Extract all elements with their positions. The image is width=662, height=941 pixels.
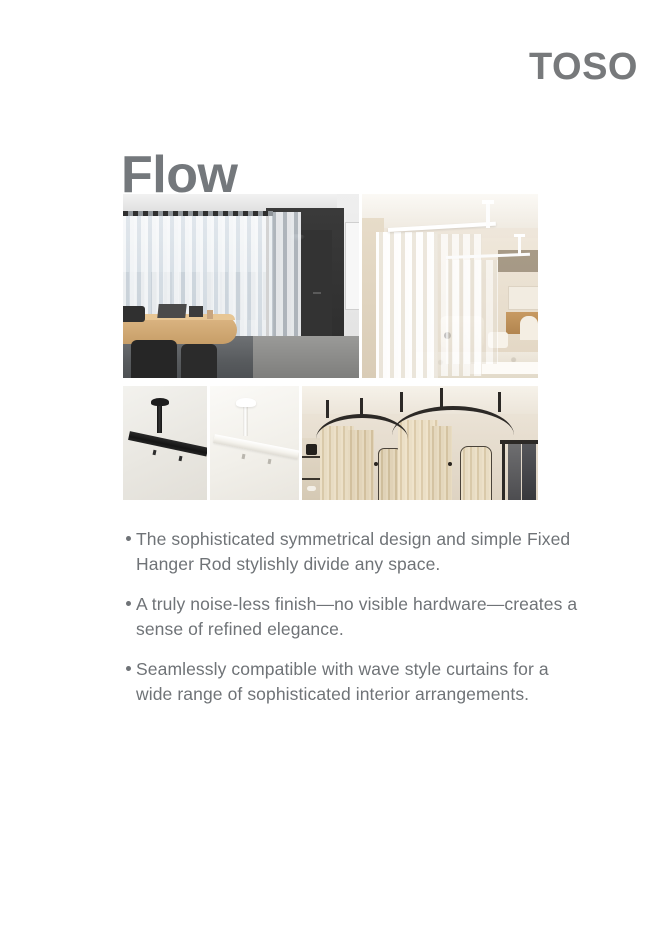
retail-handbag <box>306 444 317 455</box>
photo-black-rod-detail <box>123 386 207 500</box>
bullet-dot-icon <box>126 601 131 606</box>
lounge-side-chair <box>520 316 538 340</box>
retail-rod-drop-1 <box>326 400 329 418</box>
photo-white-rod-detail <box>210 386 299 500</box>
white-rod-bracket <box>236 398 256 407</box>
retail-rod-drop-4 <box>440 388 443 410</box>
retail-wall-knob-1 <box>374 462 378 466</box>
office-chair-front-2 <box>181 344 217 378</box>
office-curtain-stack <box>269 212 301 354</box>
retail-curtain-niche <box>460 446 492 500</box>
photo-retail-fitting-rooms <box>302 386 538 500</box>
lounge-shelf-unit <box>508 286 538 310</box>
retail-rod-drop-3 <box>400 392 403 412</box>
gallery-row-top <box>123 194 538 378</box>
lounge-curtain-front <box>376 232 438 378</box>
office-monitor <box>189 306 203 317</box>
lounge-ceiling <box>362 194 538 228</box>
feature-list: The sophisticated symmetrical design and… <box>126 527 586 722</box>
office-chair-back <box>123 306 145 322</box>
list-item: The sophisticated symmetrical design and… <box>126 527 586 577</box>
office-wall-art <box>345 222 359 310</box>
office-cup <box>207 310 213 319</box>
office-curtain-rail <box>123 211 273 216</box>
gallery-row-bottom <box>123 386 538 500</box>
lounge-rod-back-drop <box>518 236 521 256</box>
feature-text: The sophisticated symmetrical design and… <box>136 527 586 577</box>
retail-rack-post <box>502 440 505 500</box>
lounge-rod-back-cap <box>514 234 525 237</box>
feature-text: Seamlessly compatible with wave style cu… <box>136 657 586 707</box>
retail-wall-knob-2 <box>448 462 452 466</box>
retail-garment-1 <box>508 444 521 500</box>
lounge-rod-front-cap <box>482 200 494 204</box>
list-item: Seamlessly compatible with wave style cu… <box>126 657 586 707</box>
white-rod-drop <box>243 406 248 436</box>
office-chair-front-1 <box>131 340 177 378</box>
retail-garment-2 <box>522 444 536 500</box>
product-image-gallery <box>123 194 538 500</box>
lounge-rod-front-drop <box>486 202 490 228</box>
photo-office-interior <box>123 194 359 378</box>
photo-lounge-interior <box>362 194 538 378</box>
list-item: A truly noise-less finish—no visible har… <box>126 592 586 642</box>
bullet-dot-icon <box>126 536 131 541</box>
office-floor-light <box>253 336 359 378</box>
bullet-dot-icon <box>126 666 131 671</box>
black-rod-bracket <box>151 398 169 406</box>
black-rod-drop <box>157 405 162 433</box>
feature-text: A truly noise-less finish—no visible har… <box>136 592 586 642</box>
retail-rod-drop-2 <box>360 398 363 416</box>
office-laptop <box>157 304 186 318</box>
toso-logo: TOSO <box>529 48 638 86</box>
retail-rod-drop-5 <box>498 392 501 412</box>
office-door-handle <box>313 292 321 294</box>
retail-shoe <box>307 486 316 491</box>
